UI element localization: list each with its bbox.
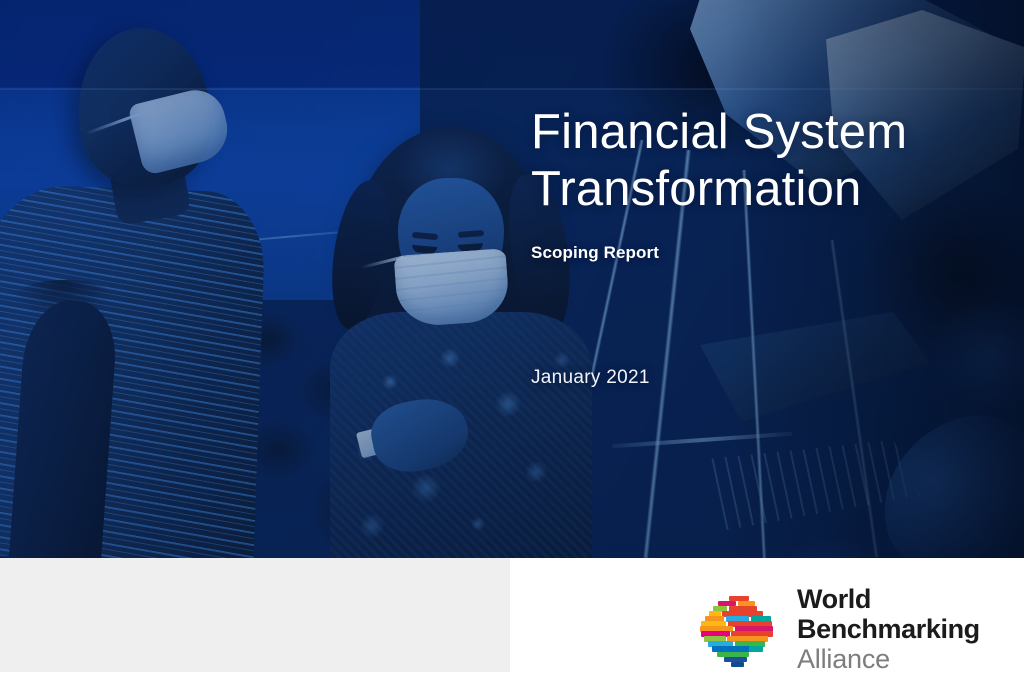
logo-wordmark: World Benchmarking Alliance bbox=[797, 586, 980, 675]
organization-logo: World Benchmarking Alliance bbox=[697, 586, 980, 675]
logo-line-world: World bbox=[797, 586, 980, 613]
cover-photo bbox=[0, 0, 1024, 558]
globe-icon bbox=[697, 589, 781, 673]
publication-date: January 2021 bbox=[531, 367, 650, 389]
page-subtitle: Scoping Report bbox=[531, 243, 659, 263]
photo-overlay-seam bbox=[0, 88, 1024, 90]
cover-footer: World Benchmarking Alliance bbox=[0, 558, 1024, 683]
page-title-line-1: Financial System bbox=[531, 105, 907, 159]
globe-stripe bbox=[749, 646, 762, 651]
page-title-line-2: Transformation bbox=[531, 162, 862, 216]
cover-title-block: Financial SystemTransformation bbox=[531, 104, 991, 218]
report-cover-page: Financial SystemTransformation Scoping R… bbox=[0, 0, 1024, 683]
page-title: Financial SystemTransformation bbox=[531, 104, 991, 218]
logo-line-benchmarking: Benchmarking bbox=[797, 616, 980, 643]
footer-gray-panel bbox=[0, 558, 510, 672]
globe-stripe bbox=[731, 662, 744, 667]
logo-line-alliance: Alliance bbox=[797, 646, 980, 673]
